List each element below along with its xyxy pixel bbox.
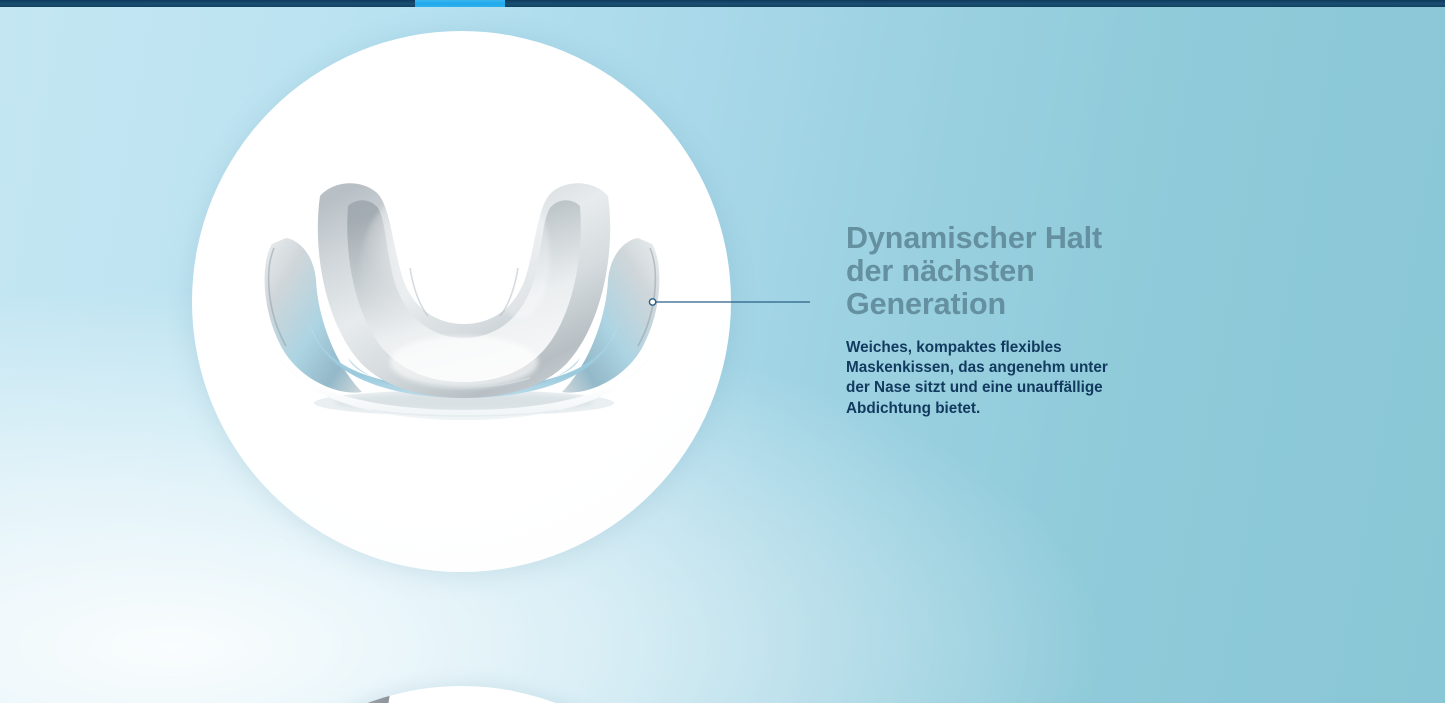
progress-fill-active[interactable] bbox=[415, 0, 505, 7]
progress-track bbox=[0, 0, 1445, 7]
feature-heading: Dynamischer Halt der nächsten Generation bbox=[846, 222, 1132, 321]
next-product-part bbox=[299, 686, 391, 703]
callout-connector bbox=[648, 294, 814, 310]
next-product-image-circle bbox=[192, 686, 731, 703]
section-progress-bar[interactable] bbox=[0, 0, 1445, 7]
mask-cushion-image bbox=[252, 172, 672, 432]
connector-node-icon bbox=[649, 299, 655, 305]
feature-callout: Dynamischer Halt der nächsten Generation… bbox=[846, 222, 1146, 419]
feature-description: Weiches, kompaktes flexibles Maskenkisse… bbox=[846, 338, 1120, 419]
